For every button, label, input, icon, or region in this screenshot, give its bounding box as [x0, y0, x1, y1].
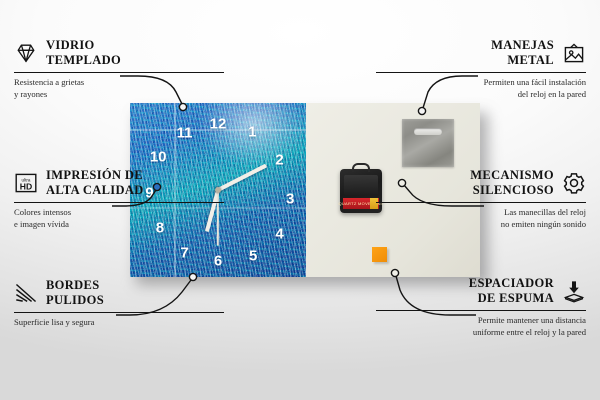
clock-numeral-12: 12 — [210, 116, 227, 131]
clock-numeral-4: 4 — [275, 226, 283, 241]
ultra-hd-icon: ultra HD — [14, 171, 38, 195]
callout-description: Permite mantener una distancia uniforme … — [376, 315, 586, 338]
callout-description: Superficie lisa y segura — [14, 317, 224, 329]
callout-head: BORDES PULIDOS — [14, 278, 224, 309]
clock-numeral-6: 6 — [214, 254, 222, 269]
callout-divider — [14, 202, 224, 204]
hanger-slot — [414, 128, 442, 135]
polished-edges-icon — [14, 281, 38, 305]
callout-title: ESPACIADOR DE ESPUMA — [469, 276, 554, 307]
clock-numeral-7: 7 — [180, 245, 188, 260]
callout-vidrio-templado: VIDRIO TEMPLADO Resistencia a grietas y … — [14, 38, 224, 100]
clock-numeral-5: 5 — [249, 249, 257, 264]
metal-hanger-plate — [402, 119, 454, 167]
callout-divider — [376, 72, 586, 74]
callout-impresion-alta-calidad: ultra HD IMPRESIÓN DE ALTA CALIDAD Color… — [14, 168, 224, 230]
clock-numeral-11: 11 — [177, 125, 193, 140]
infographic-canvas: 12 1 2 3 4 5 6 7 8 9 10 11 — [0, 0, 600, 400]
callout-description: Permiten una fácil instalación del reloj… — [376, 77, 586, 100]
callout-manejas-metal: MANEJAS METAL Permiten una fácil instala… — [376, 38, 586, 100]
mechanism-handle — [352, 163, 370, 172]
callout-head: MECANISMO SILENCIOSO — [376, 168, 586, 199]
callout-divider — [376, 310, 586, 312]
clock-numeral-2: 2 — [275, 153, 283, 168]
clock-numeral-1: 1 — [248, 124, 256, 139]
foam-spacer-square — [372, 247, 387, 262]
callout-head: MANEJAS METAL — [376, 38, 586, 69]
callout-divider — [376, 202, 586, 204]
callout-title: IMPRESIÓN DE ALTA CALIDAD — [46, 168, 144, 199]
mechanism-body — [344, 175, 378, 195]
gear-icon — [562, 171, 586, 195]
clock-numeral-3: 3 — [286, 191, 294, 206]
callout-head: VIDRIO TEMPLADO — [14, 38, 224, 69]
diamond-icon — [14, 41, 38, 65]
press-down-icon — [562, 279, 586, 303]
callout-divider — [14, 72, 224, 74]
picture-hanger-icon — [562, 41, 586, 65]
clock-numeral-10: 10 — [150, 149, 167, 164]
callout-title: BORDES PULIDOS — [46, 278, 104, 309]
callout-title: MECANISMO SILENCIOSO — [470, 168, 554, 199]
callout-description: Colores intensos e imagen vívida — [14, 207, 224, 230]
callout-head: ultra HD IMPRESIÓN DE ALTA CALIDAD — [14, 168, 224, 199]
callout-title: VIDRIO TEMPLADO — [46, 38, 121, 69]
callout-espaciador-de-espuma: ESPACIADOR DE ESPUMA Permite mantener un… — [376, 276, 586, 338]
callout-head: ESPACIADOR DE ESPUMA — [376, 276, 586, 307]
callout-description: Resistencia a grietas y rayones — [14, 77, 224, 100]
callout-mecanismo-silencioso: MECANISMO SILENCIOSO Las manecillas del … — [376, 168, 586, 230]
callout-bordes-pulidos: BORDES PULIDOS Superficie lisa y segura — [14, 278, 224, 329]
callout-divider — [14, 312, 224, 314]
callout-title: MANEJAS METAL — [491, 38, 554, 69]
callout-description: Las manecillas del reloj no emiten ningú… — [376, 207, 586, 230]
svg-text:HD: HD — [20, 182, 32, 192]
